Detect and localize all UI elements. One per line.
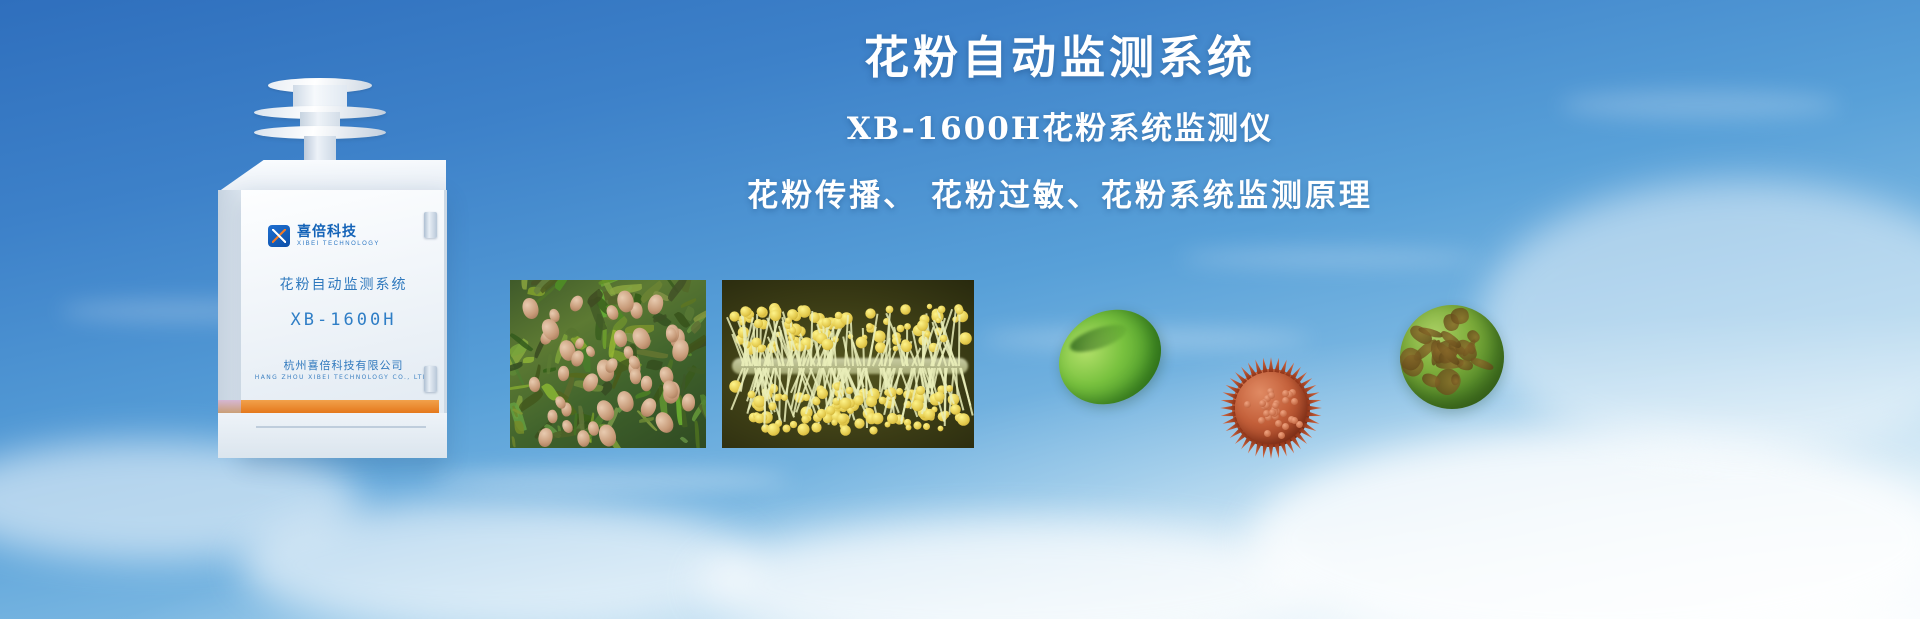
cloud-wisp-4	[430, 470, 790, 490]
catkin-anther	[900, 341, 911, 352]
catkin-anther	[802, 416, 810, 424]
catkin-anther	[912, 399, 924, 411]
cypress-cone	[630, 368, 642, 384]
grain-spike	[1269, 357, 1274, 372]
grain-surface-bump	[1275, 420, 1282, 427]
foliage-sprig	[511, 436, 515, 447]
catkin-anther	[946, 385, 953, 392]
headline-topics: 花粉传播、 花粉过敏、花粉系统监测原理	[560, 170, 1560, 215]
cloud-wisp-5	[1560, 90, 1840, 120]
catkin-anther	[754, 319, 763, 328]
catkin-anther	[937, 426, 943, 432]
brand-name-cn: 喜倍科技	[297, 224, 380, 238]
grain-surface-bump	[1269, 409, 1276, 416]
foliage-sprig	[517, 389, 545, 412]
cypress-cone	[652, 409, 677, 436]
cabinet-top-face	[218, 160, 446, 192]
catkin-anther	[812, 397, 820, 405]
device-company-cn: 杭州喜倍科技有限公司	[241, 357, 446, 373]
brand-name-en: XIBEI TECHNOLOGY	[297, 241, 380, 247]
grain-surface-bump	[1258, 417, 1265, 424]
cypress-cone	[557, 366, 568, 381]
grain-spike	[1307, 406, 1322, 411]
foliage-sprig	[695, 421, 700, 448]
monitoring-cabinet: 喜倍科技 XIBEI TECHNOLOGY 花粉自动监测系统 XB-1600H …	[196, 78, 464, 438]
catkin-anther	[957, 414, 970, 427]
foliage-sprig	[635, 348, 667, 360]
device-model-number: XB-1600H	[241, 310, 446, 330]
cloud-wisp-3	[1180, 250, 1480, 266]
grain-surface-bump	[1282, 397, 1289, 404]
catkin-anther	[835, 311, 843, 319]
catkin-anther	[915, 385, 924, 394]
cypress-cone	[640, 375, 652, 391]
foliage-sprig	[515, 421, 524, 434]
pollen-monitoring-banner: 喜倍科技 XIBEI TECHNOLOGY 花粉自动监测系统 XB-1600H …	[0, 0, 1920, 619]
catkin-anther	[934, 392, 944, 402]
device-product-name: 花粉自动监测系统	[241, 274, 446, 294]
catkin-anther	[950, 404, 961, 415]
cabinet-vent-line	[256, 426, 426, 428]
catkin-anther	[757, 306, 767, 316]
accent-stripe-front	[241, 400, 439, 413]
catkin-anther	[770, 310, 781, 321]
catkin-anther	[872, 412, 884, 424]
grain-spike	[1269, 444, 1274, 459]
cypress-cone	[682, 393, 696, 411]
catkin-anther	[904, 323, 911, 330]
foliage-sprig	[521, 280, 529, 289]
cypress-cone	[567, 294, 584, 314]
pollen-grain-textured-icon	[1400, 305, 1504, 409]
grain-surface-bump	[1268, 392, 1275, 399]
catkin-anther	[923, 423, 930, 430]
catkin-anther	[840, 425, 851, 436]
pollen-grain-spiky-icon	[1219, 356, 1323, 460]
catkin-anther	[906, 425, 912, 431]
catkin-anther	[896, 325, 904, 333]
catkin-anther	[927, 304, 932, 309]
headline-block: 花粉自动监测系统 XB-1600H花粉系统监测仪 花粉传播、 花粉过敏、花粉系统…	[560, 34, 1560, 215]
stack-base-neck	[304, 136, 336, 162]
catkin-anther	[817, 409, 826, 418]
catkin-anther	[855, 419, 865, 429]
photo-cypress-cones	[510, 280, 706, 448]
foliage-sprig	[510, 385, 531, 392]
catkin-anther	[896, 387, 903, 394]
catkin-anther	[866, 396, 877, 407]
catkin-anther	[959, 332, 972, 345]
catkin-anther	[869, 426, 877, 434]
grain-surface-bump	[1282, 423, 1289, 430]
catkin-anther	[846, 387, 853, 394]
cabinet-latch-bottom[interactable]	[424, 366, 437, 392]
cabinet-latch-top[interactable]	[424, 212, 437, 238]
catkin-anther	[937, 306, 945, 314]
catkin-anther	[913, 421, 921, 429]
cabinet-base	[218, 413, 447, 458]
catkin-anther	[886, 306, 894, 314]
grain-surface-bump	[1291, 398, 1298, 405]
grain-surface-bump	[1278, 432, 1285, 439]
catkin-anther	[740, 306, 750, 316]
foliage-sprig	[680, 436, 689, 445]
catkin-anther	[798, 423, 810, 435]
catkin-anther	[866, 309, 876, 319]
grain-spike	[1220, 406, 1235, 411]
grain-blotch	[1450, 306, 1470, 325]
catkin-anther	[956, 306, 964, 314]
grain-surface-bump	[1244, 401, 1251, 408]
catkin-anther	[900, 305, 910, 315]
cypress-cone	[547, 409, 558, 423]
catkin-filament	[958, 310, 960, 366]
catkin-anther	[887, 413, 898, 424]
catkin-anther	[785, 317, 792, 324]
grain-surface-bump	[1280, 410, 1287, 417]
photo-pollen-catkin	[722, 280, 974, 448]
grain-surface-bump	[1264, 430, 1271, 437]
foliage-sprig	[523, 356, 534, 362]
catkin-anther	[856, 337, 868, 349]
page-title: 花粉自动监测系统	[560, 34, 1560, 81]
catkin-anther	[774, 393, 782, 401]
grain-surface-bump	[1259, 400, 1266, 407]
catkin-anther	[798, 305, 810, 317]
catkin-anther	[811, 422, 821, 432]
catkin-anther	[769, 402, 777, 410]
accent-stripe-side	[218, 400, 242, 413]
xibei-logo-icon	[268, 225, 290, 247]
headline-subtitle: XB-1600H花粉系统监测仪	[560, 103, 1560, 148]
catkin-anther	[789, 420, 796, 427]
device-company-en: HANG ZHOU XIBEI TECHNOLOGY CO., LTD.	[241, 374, 446, 381]
catkin-anther	[767, 424, 780, 437]
foliage-sprig	[639, 417, 654, 423]
device-brand-logo: 喜倍科技 XIBEI TECHNOLOGY	[268, 224, 380, 247]
